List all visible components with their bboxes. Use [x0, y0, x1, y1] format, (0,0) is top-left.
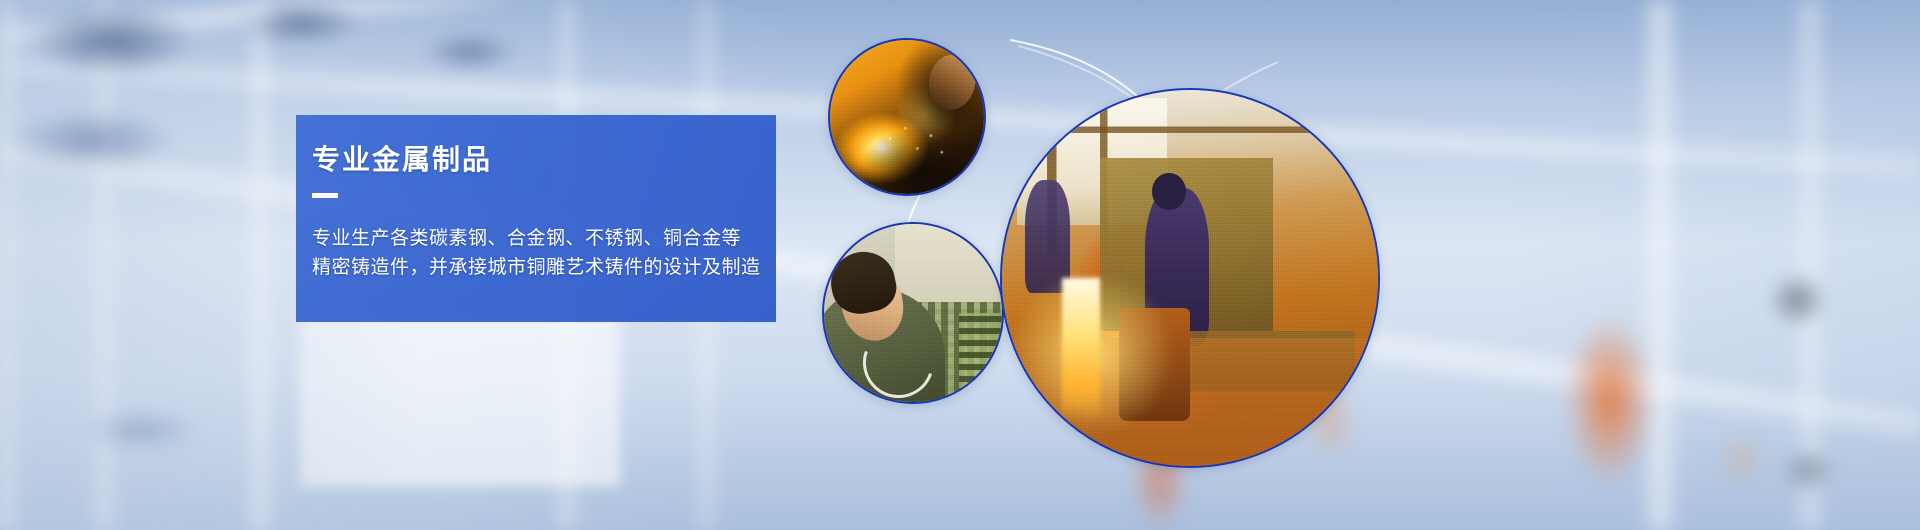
photo-circle-foundry: [1000, 88, 1380, 468]
molten-pour-stream: [1062, 278, 1100, 421]
text-panel-content: 专业金属制品 专业生产各类碳素钢、合金钢、不锈钢、铜合金等 精密铸造件，并承接城…: [296, 115, 936, 322]
banner-title: 专业金属制品: [312, 145, 936, 176]
casting-rack-side: [959, 313, 1004, 404]
title-divider-rule: [312, 193, 338, 198]
banner-description: 专业生产各类碳素钢、合金钢、不锈钢、铜合金等 精密铸造件，并承接城市铜雕艺术铸件…: [312, 224, 936, 283]
hero-banner: 专业金属制品 专业生产各类碳素钢、合金钢、不锈钢、铜合金等 精密铸造件，并承接城…: [0, 0, 1920, 530]
